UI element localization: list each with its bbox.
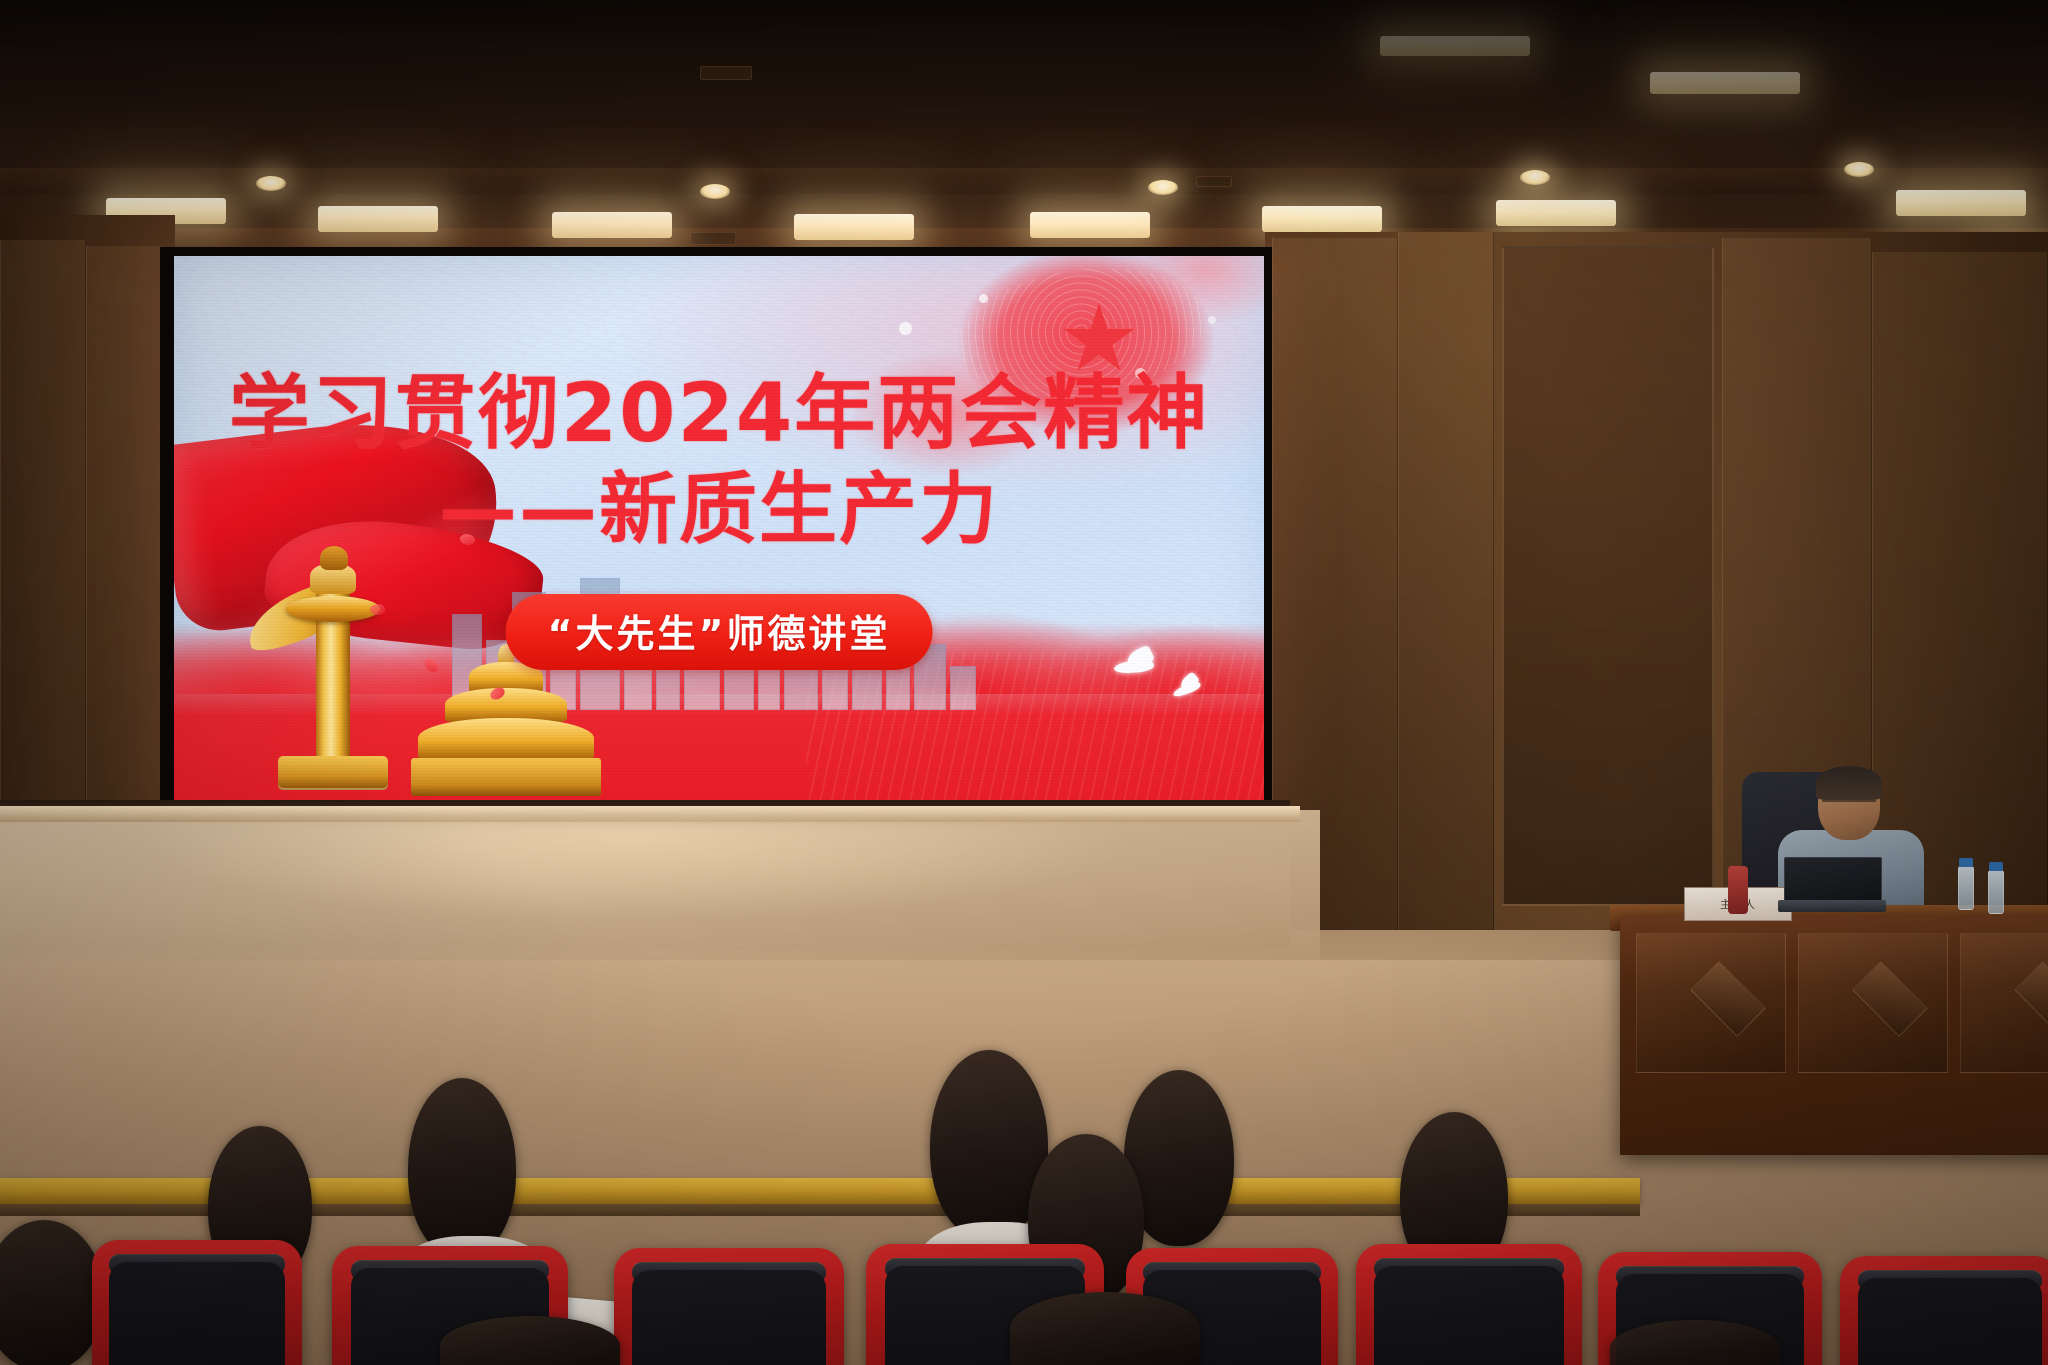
ceiling-light	[1496, 200, 1616, 226]
water-bottle[interactable]	[1958, 866, 1974, 910]
ceiling-spotlight	[256, 176, 286, 191]
ceiling-light	[552, 212, 672, 238]
ceiling	[0, 0, 2048, 262]
ceiling-spotlight	[1148, 180, 1178, 195]
seat-back-cushion	[632, 1270, 825, 1365]
ceiling-spotlight	[700, 184, 730, 199]
ceiling-spotlight	[1844, 162, 1874, 177]
podium-desk	[1620, 915, 2048, 1155]
laptop-keyboard[interactable]	[1778, 900, 1886, 912]
ceiling-vent	[700, 66, 752, 80]
ceiling-light	[318, 206, 438, 232]
glasses-icon	[1822, 800, 1876, 811]
seat-back-cushion	[109, 1262, 285, 1365]
auditorium-seat[interactable]	[1840, 1256, 2048, 1365]
ceiling-spotlight	[1520, 170, 1550, 185]
thermos-cup[interactable]	[1728, 866, 1748, 914]
ceiling-light	[1896, 190, 2026, 216]
audience-head	[408, 1078, 516, 1258]
auditorium-seat[interactable]	[614, 1248, 844, 1365]
stage-edge	[0, 806, 1300, 822]
auditorium-scene: 学习贯彻2024年两会精神 ——新质生产力 “大先生”师德讲堂 主讲人	[0, 0, 2048, 1365]
seat-back-cushion	[1374, 1266, 1564, 1365]
ceiling-band-top	[0, 0, 2048, 55]
ceiling-band-mid	[0, 168, 2048, 194]
led-scanlines	[174, 256, 1264, 802]
ceiling-light	[1030, 212, 1150, 238]
bottle-cap	[1989, 862, 2003, 871]
ceiling-light	[1262, 206, 1382, 232]
audience-head-front	[1010, 1292, 1200, 1365]
ceiling-light	[1650, 72, 1800, 94]
auditorium-seat[interactable]	[92, 1240, 302, 1365]
ceiling-light	[1380, 36, 1530, 56]
laptop-screen[interactable]	[1784, 857, 1882, 903]
water-bottle[interactable]	[1988, 870, 2004, 914]
seat-back-cushion	[1858, 1278, 2043, 1365]
ceiling-light	[794, 214, 914, 240]
led-screen: 学习贯彻2024年两会精神 ——新质生产力 “大先生”师德讲堂	[174, 256, 1264, 802]
door-right[interactable]	[1502, 246, 1714, 906]
wall-panel-right	[1398, 232, 1494, 938]
stage-light-reflection	[100, 822, 1280, 942]
ceiling-vent	[1196, 176, 1232, 187]
bottle-cap	[1959, 858, 1973, 867]
ceiling-vent	[690, 232, 736, 245]
speaker-hair	[1816, 766, 1882, 800]
auditorium-seat[interactable]	[1356, 1244, 1582, 1365]
